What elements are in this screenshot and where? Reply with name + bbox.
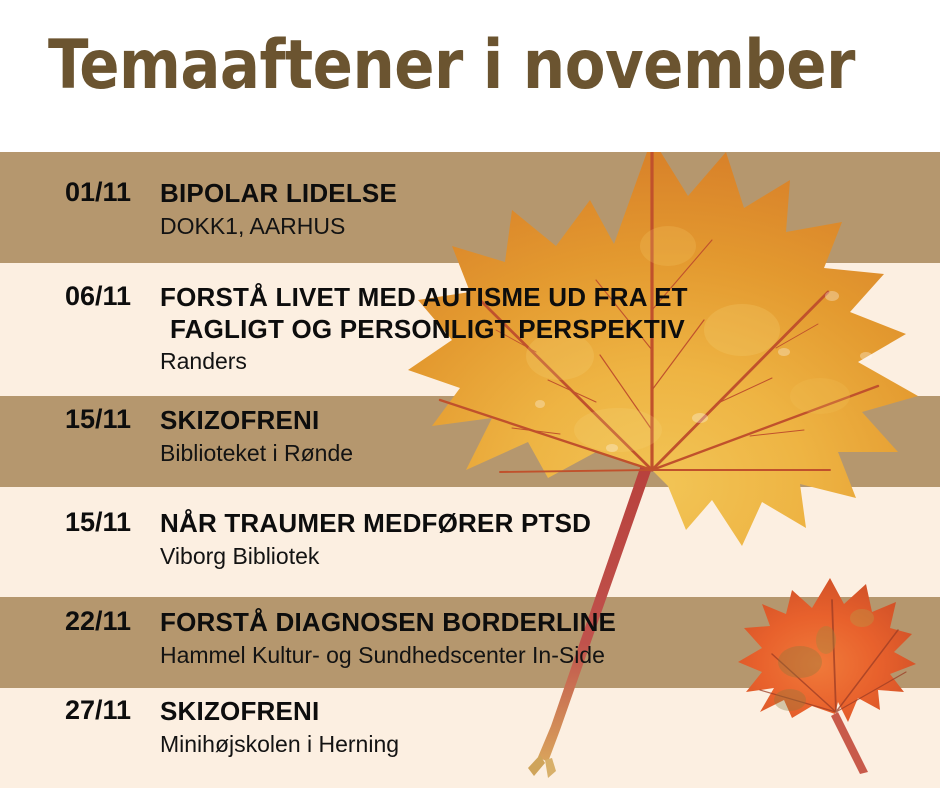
event-location: Hammel Kultur- og Sundhedscenter In-Side <box>160 641 940 670</box>
event-title-line: NÅR TRAUMER MEDFØRER PTSD <box>160 508 940 540</box>
event-info: SKIZOFRENI Minihøjskolen i Herning <box>160 696 940 758</box>
event-title-line: BIPOLAR LIDELSE <box>160 178 940 210</box>
event-date: 15/11 <box>0 508 160 538</box>
event-location: DOKK1, AARHUS <box>160 212 940 241</box>
event-row: 27/11 SKIZOFRENI Minihøjskolen i Herning <box>0 696 940 758</box>
event-row: 01/11 BIPOLAR LIDELSE DOKK1, AARHUS <box>0 178 940 240</box>
event-title-line: SKIZOFRENI <box>160 696 940 728</box>
event-info: SKIZOFRENI Biblioteket i Rønde <box>160 405 940 467</box>
event-row: 06/11 FORSTÅ LIVET MED AUTISME UD FRA ET… <box>0 282 940 376</box>
event-title-line: FORSTÅ DIAGNOSEN BORDERLINE <box>160 607 940 639</box>
event-date: 06/11 <box>0 282 160 312</box>
page-title: Temaaftener i november <box>48 32 855 100</box>
event-location: Randers <box>160 347 940 376</box>
event-date: 27/11 <box>0 696 160 726</box>
event-title-line: SKIZOFRENI <box>160 405 940 437</box>
event-info: FORSTÅ DIAGNOSEN BORDERLINE Hammel Kultu… <box>160 607 940 669</box>
event-location: Minihøjskolen i Herning <box>160 730 940 759</box>
event-row: 22/11 FORSTÅ DIAGNOSEN BORDERLINE Hammel… <box>0 607 940 669</box>
poster-header: Temaaftener i november <box>0 0 940 152</box>
event-info: NÅR TRAUMER MEDFØRER PTSD Viborg Bibliot… <box>160 508 940 570</box>
event-date: 15/11 <box>0 405 160 435</box>
event-info: BIPOLAR LIDELSE DOKK1, AARHUS <box>160 178 940 240</box>
event-info: FORSTÅ LIVET MED AUTISME UD FRA ET FAGLI… <box>160 282 940 376</box>
event-date: 22/11 <box>0 607 160 637</box>
event-date: 01/11 <box>0 178 160 208</box>
event-title-line: FORSTÅ LIVET MED AUTISME UD FRA ET <box>160 282 940 314</box>
poster-canvas: Temaaftener i november 01/11 BIPOLAR LID… <box>0 0 940 788</box>
event-title-line: FAGLIGT OG PERSONLIGT PERSPEKTIV <box>160 314 940 346</box>
event-location: Biblioteket i Rønde <box>160 439 940 468</box>
event-location: Viborg Bibliotek <box>160 542 940 571</box>
event-row: 15/11 NÅR TRAUMER MEDFØRER PTSD Viborg B… <box>0 508 940 570</box>
event-row: 15/11 SKIZOFRENI Biblioteket i Rønde <box>0 405 940 467</box>
